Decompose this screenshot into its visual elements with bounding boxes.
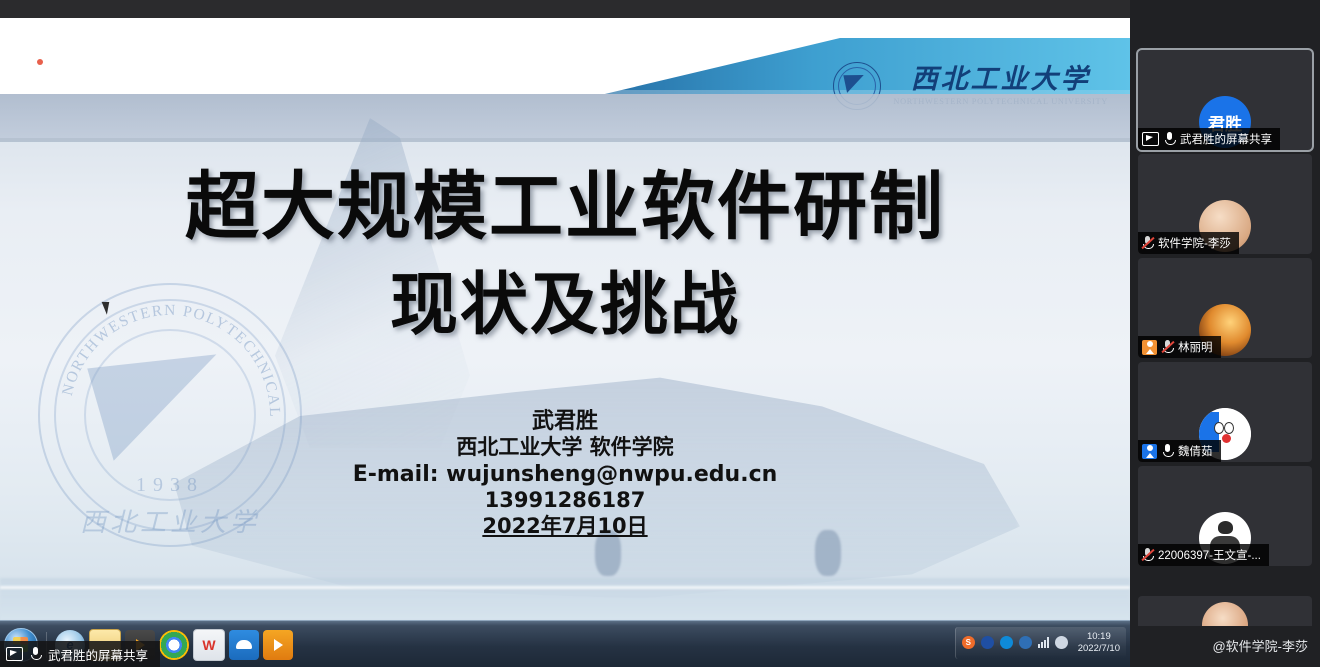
participant-tile-2[interactable]: 林丽明	[1138, 258, 1312, 358]
recording-label: 录制中	[59, 52, 100, 71]
microphone-icon	[1162, 444, 1173, 458]
screen-share-badge-label: 武君胜的屏幕共享	[48, 645, 148, 664]
remote-desktop-top-strip	[0, 0, 1130, 18]
clock-time: 10:19	[1078, 631, 1120, 643]
participant-label: 魏倩茹	[1138, 440, 1221, 462]
microphone-icon	[1164, 132, 1175, 146]
sogou-input-icon[interactable]: S	[962, 636, 975, 649]
presenter-name: 武君胜	[0, 408, 1130, 435]
participant-label: 林丽明	[1138, 336, 1221, 358]
windows-taskbar[interactable]: e W S 10:19 2022/7/10	[0, 620, 1130, 667]
screen-share-badge: 武君胜的屏幕共享	[0, 641, 160, 667]
meeting-screen-share-window: 西北工业大学 NORTHWESTERN POLYTECHNICAL UNIVER…	[0, 0, 1320, 667]
screen-share-icon	[6, 647, 23, 661]
slide-author-block: 武君胜 西北工业大学 软件学院 E-mail: wujunsheng@nwpu.…	[0, 408, 1130, 540]
shared-screen-region[interactable]: 西北工业大学 NORTHWESTERN POLYTECHNICAL UNIVER…	[0, 0, 1130, 667]
participant-name: 软件学院-李莎	[1158, 235, 1231, 251]
participant-tile-4[interactable]: 22006397-王文宣-...	[1138, 466, 1312, 566]
microphone-muted-icon	[1142, 548, 1153, 562]
slide-grey-stripe	[0, 94, 1130, 138]
slide-grey-stripe-edge	[0, 138, 1130, 142]
slide-date: 2022年7月10日	[482, 514, 647, 538]
presenter-email: E-mail: wujunsheng@nwpu.edu.cn	[0, 461, 1130, 488]
blue-app-icon[interactable]	[981, 636, 994, 649]
volume-icon[interactable]	[1055, 636, 1068, 649]
screen-share-icon	[1142, 132, 1159, 146]
wps-office-icon[interactable]: W	[193, 629, 225, 661]
participant-tile-3[interactable]: 魏倩茹	[1138, 362, 1312, 462]
participant-name: 魏倩茹	[1178, 443, 1213, 459]
participant-tile-5-partial[interactable]	[1138, 596, 1312, 626]
system-tray[interactable]: S 10:19 2022/7/10	[955, 627, 1126, 659]
microphone-muted-icon	[1162, 340, 1173, 354]
presentation-slide: 西北工业大学 NORTHWESTERN POLYTECHNICAL UNIVER…	[0, 38, 1130, 620]
video-player-icon[interactable]	[263, 630, 293, 660]
signal-icon[interactable]	[1038, 637, 1049, 648]
slide-title-line2: 现状及挑战	[0, 272, 1130, 340]
participant-label: 22006397-王文宣-...	[1138, 544, 1269, 566]
panel-footer-label: @软件学院-李莎	[1212, 636, 1308, 655]
participant-tile-0[interactable]: 君胜 武君胜的屏幕共享	[1138, 50, 1312, 150]
university-name-cn: 西北工业大学	[911, 66, 1091, 94]
participant-name: 22006397-王文宣-...	[1158, 547, 1261, 563]
microphone-icon	[30, 647, 41, 661]
white-band	[0, 18, 1130, 38]
qq-icon[interactable]	[1000, 636, 1013, 649]
chrome-icon[interactable]	[159, 630, 189, 660]
presenter-phone: 13991286187	[0, 488, 1130, 514]
network-icon[interactable]	[1019, 636, 1032, 649]
cloud-record-icon	[30, 55, 50, 68]
runway-line	[0, 586, 1130, 589]
slide-title-block: 超大规模工业软件研制 现状及挑战	[0, 170, 1130, 340]
runway-deck	[0, 578, 1130, 620]
person-badge-icon	[1142, 444, 1157, 459]
presenter-affiliation: 西北工业大学 软件学院	[0, 435, 1130, 461]
participant-label: 软件学院-李莎	[1138, 232, 1239, 254]
participant-name: 林丽明	[1178, 339, 1213, 355]
seafile-icon[interactable]	[229, 630, 259, 660]
participants-panel[interactable]: 君胜 武君胜的屏幕共享 软件学院-李莎 林丽明	[1130, 0, 1320, 667]
avatar	[1202, 602, 1248, 626]
participant-label: 武君胜的屏幕共享	[1138, 128, 1280, 150]
recording-indicator: 录制中	[30, 52, 100, 71]
slide-title-line1: 超大规模工业软件研制	[0, 170, 1130, 244]
participant-name: 武君胜的屏幕共享	[1180, 131, 1272, 147]
clock-date: 2022/7/10	[1078, 643, 1120, 655]
microphone-muted-icon	[1142, 236, 1153, 250]
slide-header-white-shape	[0, 38, 840, 94]
person-badge-icon	[1142, 340, 1157, 355]
participant-tile-1[interactable]: 软件学院-李莎	[1138, 154, 1312, 254]
taskbar-clock[interactable]: 10:19 2022/7/10	[1078, 631, 1120, 655]
